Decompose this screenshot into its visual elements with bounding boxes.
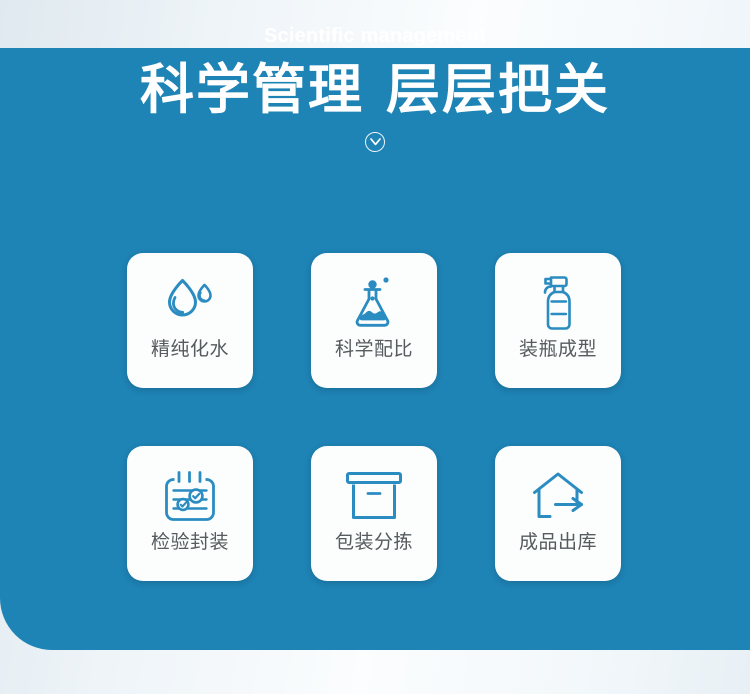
section-header: Scientific management 科学管理层层把关 [0, 0, 750, 152]
process-card-grid: 精纯化水 科学配比 [127, 253, 623, 581]
process-card-label: 精纯化水 [151, 340, 229, 359]
inspection-checklist-icon [164, 463, 216, 529]
process-card-inspection[interactable]: 检验封装 [127, 446, 253, 581]
page-title-left: 科学管理 [140, 60, 364, 120]
water-droplets-icon [163, 270, 217, 336]
process-card-label: 科学配比 [335, 340, 413, 359]
warehouse-outbound-icon [529, 463, 587, 529]
process-card-label: 包装分拣 [335, 533, 413, 552]
packing-box-icon [345, 463, 403, 529]
process-card-water-purification[interactable]: 精纯化水 [127, 253, 253, 388]
page-title-right: 层层把关 [386, 60, 610, 120]
chevron-down-circle-icon[interactable] [365, 132, 385, 152]
process-card-bottling[interactable]: 装瓶成型 [495, 253, 621, 388]
spray-bottle-icon [536, 270, 580, 336]
process-card-outbound[interactable]: 成品出库 [495, 446, 621, 581]
process-card-label: 检验封装 [151, 533, 229, 552]
page-title: 科学管理层层把关 [0, 60, 750, 120]
conical-flask-icon [351, 270, 397, 336]
scroll-hint[interactable] [0, 132, 750, 152]
header-eyebrow: Scientific management [0, 26, 750, 46]
process-card-packing[interactable]: 包装分拣 [311, 446, 437, 581]
process-card-label: 成品出库 [519, 533, 597, 552]
process-card-label: 装瓶成型 [519, 340, 597, 359]
process-card-formulation[interactable]: 科学配比 [311, 253, 437, 388]
